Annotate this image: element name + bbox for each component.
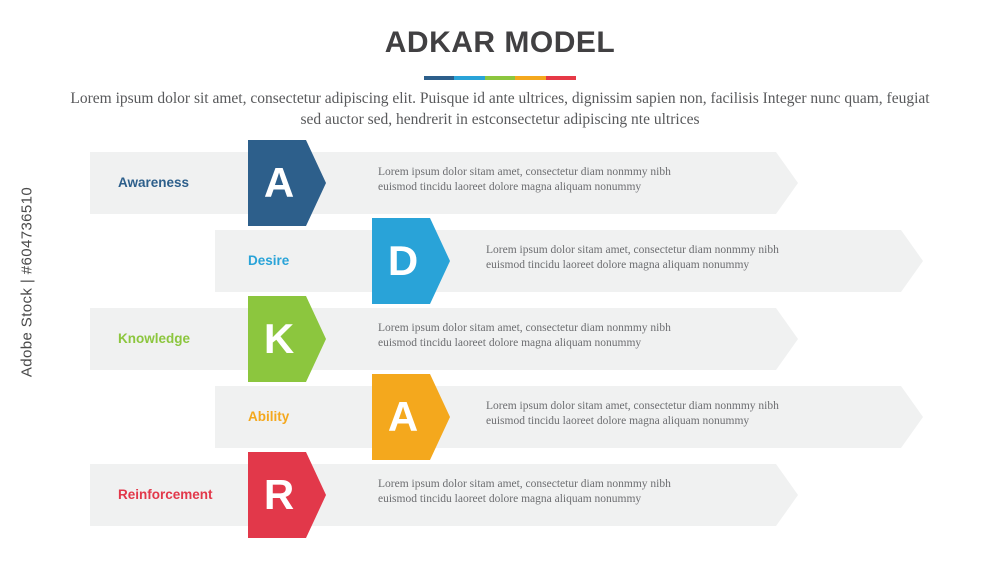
adkar-row[interactable]: DesireDLorem ipsum dolor sitam amet, con… <box>0 230 1000 292</box>
row-description: Lorem ipsum dolor sitam amet, consectetu… <box>378 477 671 507</box>
rule-segment <box>546 76 576 80</box>
page-subtitle: Lorem ipsum dolor sit amet, consectetur … <box>60 88 940 130</box>
adkar-row[interactable]: AbilityALorem ipsum dolor sitam amet, co… <box>0 386 1000 448</box>
rule-segment <box>485 76 515 80</box>
row-label: Ability <box>248 386 289 448</box>
row-label: Desire <box>248 230 289 292</box>
adkar-row[interactable]: ReinforcementRLorem ipsum dolor sitam am… <box>0 464 1000 526</box>
page-title: ADKAR MODEL <box>0 26 1000 60</box>
adkar-row[interactable]: KnowledgeKLorem ipsum dolor sitam amet, … <box>0 308 1000 370</box>
row-letter-chevron: A <box>372 374 450 460</box>
row-letter-chevron: D <box>372 218 450 304</box>
adkar-row[interactable]: AwarenessALorem ipsum dolor sitam amet, … <box>0 152 1000 214</box>
row-letter-chevron: R <box>248 452 326 538</box>
row-letter: A <box>372 374 434 460</box>
row-letter-chevron: A <box>248 140 326 226</box>
row-letter: D <box>372 218 434 304</box>
row-letter-chevron: K <box>248 296 326 382</box>
rule-segment <box>515 76 545 80</box>
row-description: Lorem ipsum dolor sitam amet, consectetu… <box>378 165 671 195</box>
row-description: Lorem ipsum dolor sitam amet, consectetu… <box>486 399 779 429</box>
row-description: Lorem ipsum dolor sitam amet, consectetu… <box>486 243 779 273</box>
row-letter: R <box>248 452 310 538</box>
row-label: Knowledge <box>118 308 190 370</box>
title-underline-rule <box>424 76 576 80</box>
rule-segment <box>424 76 454 80</box>
row-letter: A <box>248 140 310 226</box>
row-label: Reinforcement <box>118 464 213 526</box>
rule-segment <box>454 76 484 80</box>
row-letter: K <box>248 296 310 382</box>
row-label: Awareness <box>118 152 189 214</box>
row-description: Lorem ipsum dolor sitam amet, consectetu… <box>378 321 671 351</box>
